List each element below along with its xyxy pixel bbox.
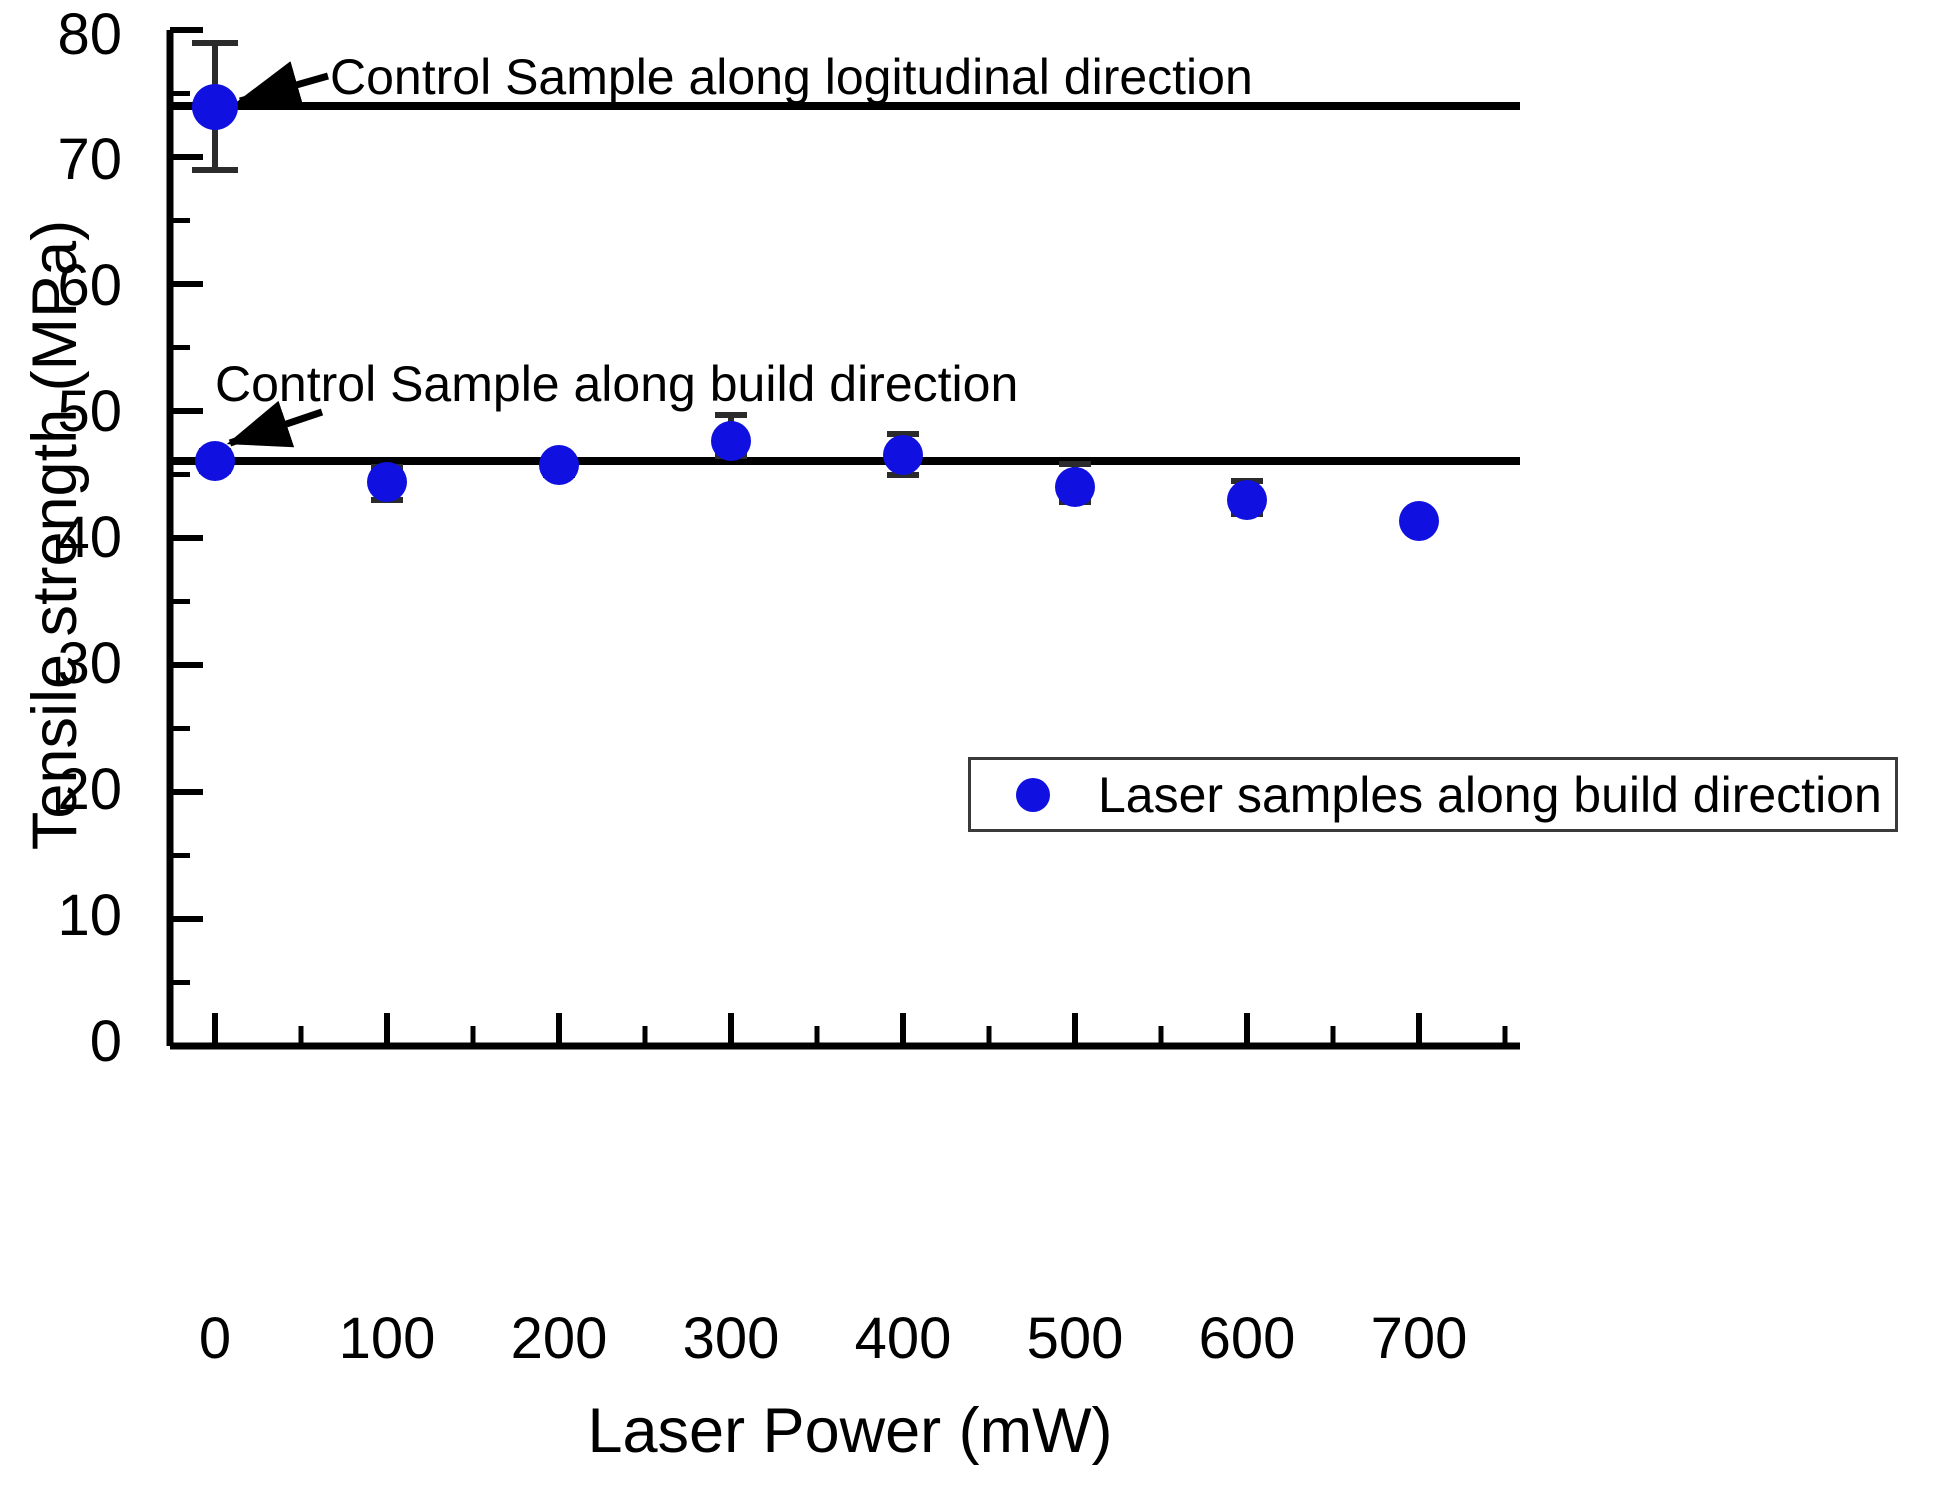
data-point-laser-600 bbox=[1227, 480, 1267, 520]
legend: Laser samples along build direction bbox=[968, 757, 1898, 832]
errorbar-laser-600 bbox=[1231, 481, 1263, 514]
x-axis-title: Laser Power (mW) bbox=[170, 1395, 1530, 1467]
data-point-laser-500 bbox=[1055, 467, 1095, 507]
errorbar-laser-0 bbox=[199, 451, 231, 471]
y-tick-label-60: 60 bbox=[2, 257, 122, 315]
errorbar-laser-200 bbox=[543, 457, 575, 475]
errorbar-laser-700 bbox=[1405, 516, 1433, 531]
data-point-laser-300 bbox=[711, 421, 751, 461]
x-tick-label-300: 300 bbox=[641, 1310, 821, 1368]
axis-frame bbox=[170, 30, 1520, 1046]
y-tick-label-70: 70 bbox=[2, 131, 122, 189]
y-tick-label-20: 20 bbox=[2, 761, 122, 819]
annotation-longitudinal-text: Control Sample along logitudinal directi… bbox=[330, 48, 1253, 106]
chart-figure: Tensile strength (MPa) 80 70 60 50 40 30… bbox=[0, 0, 1941, 1497]
legend-marker-icon bbox=[1016, 778, 1050, 812]
annotation-arrow-longitudinal bbox=[240, 76, 328, 101]
data-point-laser-200 bbox=[539, 445, 579, 485]
x-tick-label-200: 200 bbox=[469, 1310, 649, 1368]
x-tick-label-500: 500 bbox=[985, 1310, 1165, 1368]
x-tick-label-0: 0 bbox=[125, 1310, 305, 1368]
plot-canvas bbox=[0, 0, 1941, 1497]
x-tick-label-600: 600 bbox=[1157, 1310, 1337, 1368]
y-minor-ticks bbox=[170, 94, 190, 983]
y-major-ticks bbox=[170, 30, 203, 1046]
errorbar-laser-100 bbox=[371, 467, 403, 500]
y-tick-label-40: 40 bbox=[2, 509, 122, 567]
x-tick-label-700: 700 bbox=[1329, 1310, 1509, 1368]
y-tick-label-30: 30 bbox=[2, 635, 122, 693]
errorbar-laser-300 bbox=[715, 415, 747, 456]
y-tick-label-80: 80 bbox=[2, 6, 122, 64]
x-tick-label-100: 100 bbox=[297, 1310, 477, 1368]
data-point-laser-700 bbox=[1399, 501, 1439, 541]
annotation-arrow-build bbox=[230, 412, 322, 443]
x-minor-ticks bbox=[301, 1026, 1505, 1046]
data-point-laser-400 bbox=[883, 435, 923, 475]
errorbar-laser-500 bbox=[1059, 464, 1091, 502]
y-tick-label-50: 50 bbox=[2, 383, 122, 441]
errorbar-control-longitudinal bbox=[192, 43, 238, 170]
data-point-laser-0 bbox=[195, 441, 235, 481]
y-tick-label-0: 0 bbox=[2, 1013, 122, 1071]
data-point-control-longitudinal bbox=[192, 84, 238, 130]
legend-entry-label: Laser samples along build direction bbox=[1098, 766, 1882, 824]
errorbar-laser-400 bbox=[887, 434, 919, 475]
x-major-ticks bbox=[215, 1013, 1419, 1046]
y-tick-label-10: 10 bbox=[2, 887, 122, 945]
data-point-laser-100 bbox=[367, 462, 407, 502]
annotation-build-text: Control Sample along build direction bbox=[215, 355, 1018, 413]
x-tick-label-400: 400 bbox=[813, 1310, 993, 1368]
